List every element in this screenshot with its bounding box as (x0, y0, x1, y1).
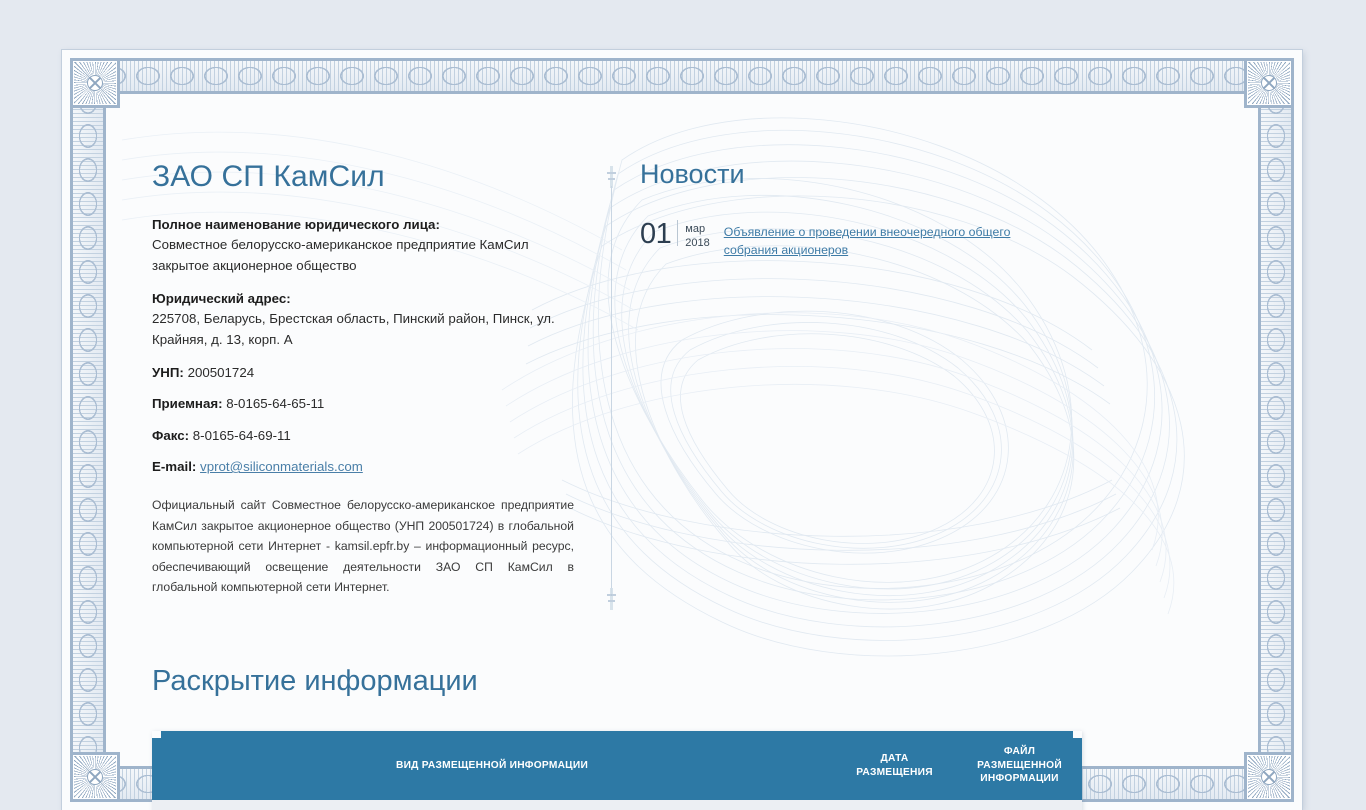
unp-label: УНП: (152, 365, 184, 380)
about-text: Официальный сайт Совместное белорусско-а… (152, 495, 574, 597)
cell-date: 26-04-2023 (832, 800, 957, 810)
fax-label: Факс: (152, 428, 189, 443)
column-header-date-line2: РАЗМЕЩЕНИЯ (856, 767, 933, 778)
legal-address-label: Юридический адрес: (152, 291, 291, 306)
table-row: О формировании реестра владельцев ценных… (152, 800, 1082, 810)
page-content: ЗАО СП КамСил Полное наименование юридич… (62, 50, 1302, 810)
reception-label: Приемная: (152, 396, 223, 411)
column-header-file: ФАЙЛ РАЗМЕЩЕННОЙ ИНФОРМАЦИИ (957, 731, 1082, 799)
fax-block: Факс: 8-0165-64-69-11 (152, 426, 582, 446)
divider-cap-bottom-icon (607, 588, 616, 610)
email-block: E-mail: vprot@siliconmaterials.com (152, 457, 582, 477)
full-name-value: Совместное белорусско-американское предп… (152, 237, 529, 272)
fax-value: 8-0165-64-69-11 (193, 428, 291, 443)
email-label: E-mail: (152, 459, 196, 474)
table-header-row: ВИД РАЗМЕЩЕННОЙ ИНФОРМАЦИИ ДАТА РАЗМЕЩЕН… (152, 731, 1082, 799)
table-header: ВИД РАЗМЕЩЕННОЙ ИНФОРМАЦИИ ДАТА РАЗМЕЩЕН… (152, 731, 1082, 799)
news-date-divider (677, 220, 678, 246)
disclosure-table: ВИД РАЗМЕЩЕННОЙ ИНФОРМАЦИИ ДАТА РАЗМЕЩЕН… (152, 731, 1082, 810)
column-header-date: ДАТА РАЗМЕЩЕНИЯ (832, 731, 957, 799)
column-header-file-line1: ФАЙЛ (1004, 746, 1035, 757)
unp-value: 200501724 (188, 365, 255, 380)
column-divider (582, 160, 640, 610)
news-month: мар (685, 223, 705, 235)
divider-rule (611, 186, 612, 596)
news-month-year: мар 2018 (685, 220, 709, 250)
news-date: 01 мар 2018 (640, 220, 724, 250)
table-body: О формировании реестра владельцев ценных… (152, 800, 1082, 810)
disclosure-title: Раскрытие информации (152, 666, 1212, 698)
disclosure-section: Раскрытие информации ВИД РАЗМЕЩЕННОЙ ИНФ… (152, 666, 1212, 810)
column-header-file-line3: ИНФОРМАЦИИ (980, 773, 1058, 784)
column-header-date-line1: ДАТА (880, 753, 908, 764)
column-header-kind: ВИД РАЗМЕЩЕННОЙ ИНФОРМАЦИИ (152, 731, 832, 799)
upper-section: ЗАО СП КамСил Полное наименование юридич… (152, 108, 1212, 610)
cell-kind: О формировании реестра владельцев ценных… (152, 800, 832, 810)
news-day: 01 (640, 220, 671, 249)
full-name-label: Полное наименование юридического лица: (152, 217, 440, 232)
reception-value: 8-0165-64-65-11 (226, 396, 324, 411)
cell-file: скачать (957, 800, 1082, 810)
news-item: 01 мар 2018 Объявление о проведении внео… (640, 220, 1212, 259)
news-title: Новости (640, 160, 1212, 190)
company-info-column: ЗАО СП КамСил Полное наименование юридич… (152, 160, 582, 610)
legal-address-value: 225708, Беларусь, Брестская область, Пин… (152, 311, 555, 346)
page-title: ЗАО СП КамСил (152, 160, 582, 193)
divider-cap-top-icon (607, 166, 616, 188)
news-year: 2018 (685, 237, 709, 249)
news-link[interactable]: Объявление о проведении внеочередного об… (724, 220, 1024, 259)
legal-address-block: Юридический адрес: 225708, Беларусь, Бре… (152, 289, 582, 350)
full-name-block: Полное наименование юридического лица: С… (152, 215, 582, 276)
unp-block: УНП: 200501724 (152, 363, 582, 383)
column-header-file-line2: РАЗМЕЩЕННОЙ (977, 760, 1062, 771)
reception-block: Приемная: 8-0165-64-65-11 (152, 394, 582, 414)
email-link[interactable]: vprot@siliconmaterials.com (200, 459, 363, 474)
news-column: Новости 01 мар 2018 Объявление о проведе… (640, 160, 1212, 259)
certificate-frame: ЗАО СП КамСил Полное наименование юридич… (62, 50, 1302, 810)
